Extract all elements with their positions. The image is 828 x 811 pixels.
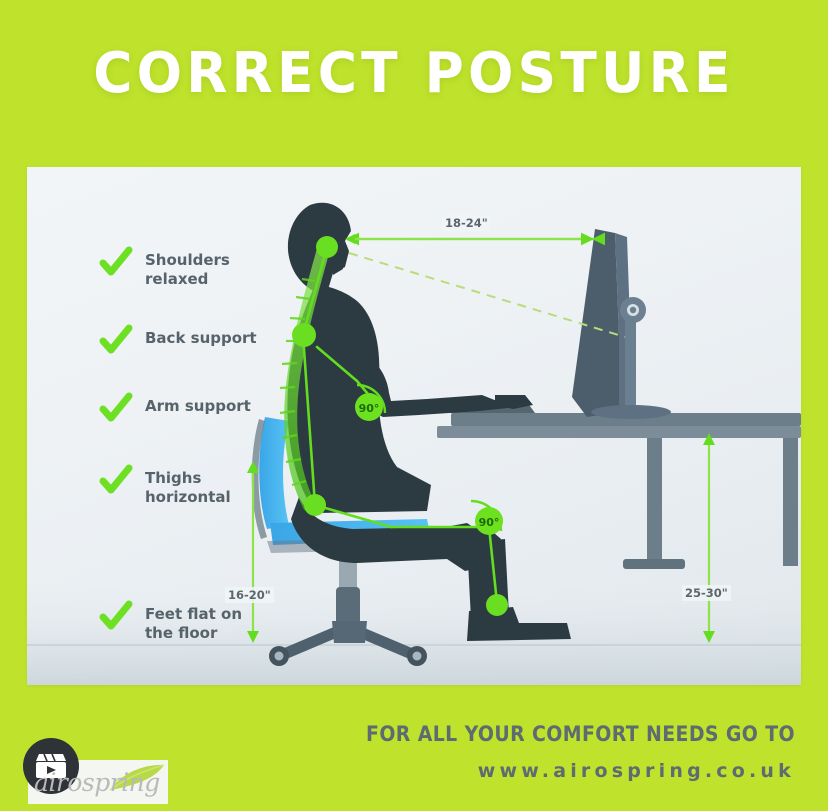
posture-infographic-poster: CORRECT POSTURE bbox=[0, 0, 828, 811]
checklist-item-shoulders: Shoulders relaxed bbox=[99, 249, 230, 289]
illustration-card: 90° 90° bbox=[27, 167, 801, 685]
elbow-angle-text: 90° bbox=[359, 402, 380, 415]
checklist-item-thighs: Thighs horizontal bbox=[99, 467, 231, 507]
sight-lines bbox=[349, 253, 625, 337]
check-icon bbox=[99, 323, 133, 357]
desk-height-label: 25-30" bbox=[682, 585, 731, 601]
monitor bbox=[572, 229, 671, 419]
checklist-label: Arm support bbox=[145, 395, 251, 416]
footer-cta-text: FOR ALL YOUR COMFORT NEEDS GO TO bbox=[366, 722, 795, 746]
checklist-item-feet-flat: Feet flat on the floor bbox=[99, 603, 242, 643]
eye-to-screen-label: 18-24" bbox=[442, 215, 491, 231]
checklist-label: Feet flat on the floor bbox=[145, 603, 242, 643]
knee-angle-text: 90° bbox=[479, 516, 500, 529]
checklist-label: Shoulders relaxed bbox=[145, 249, 230, 289]
joint-ankle bbox=[486, 594, 508, 616]
checklist-item-arm-support: Arm support bbox=[99, 395, 251, 425]
checklist-label: Thighs horizontal bbox=[145, 467, 231, 507]
brand-logo[interactable]: airospring bbox=[28, 760, 168, 804]
page-title: CORRECT POSTURE bbox=[0, 46, 828, 102]
check-icon bbox=[99, 245, 133, 279]
seat-height-label: 16-20" bbox=[225, 587, 274, 603]
check-icon bbox=[99, 463, 133, 497]
check-icon bbox=[99, 391, 133, 425]
brand-name: airospring bbox=[28, 768, 160, 797]
joint-hip bbox=[304, 494, 326, 516]
joint-mid-back bbox=[292, 323, 316, 347]
checklist-item-back-support: Back support bbox=[99, 327, 257, 357]
eye-to-screen-dimension bbox=[345, 234, 593, 244]
footer-website-url[interactable]: www.airospring.co.uk bbox=[478, 760, 795, 782]
checklist-label: Back support bbox=[145, 327, 257, 348]
joint-shoulder-top bbox=[316, 236, 338, 258]
check-icon bbox=[99, 599, 133, 633]
